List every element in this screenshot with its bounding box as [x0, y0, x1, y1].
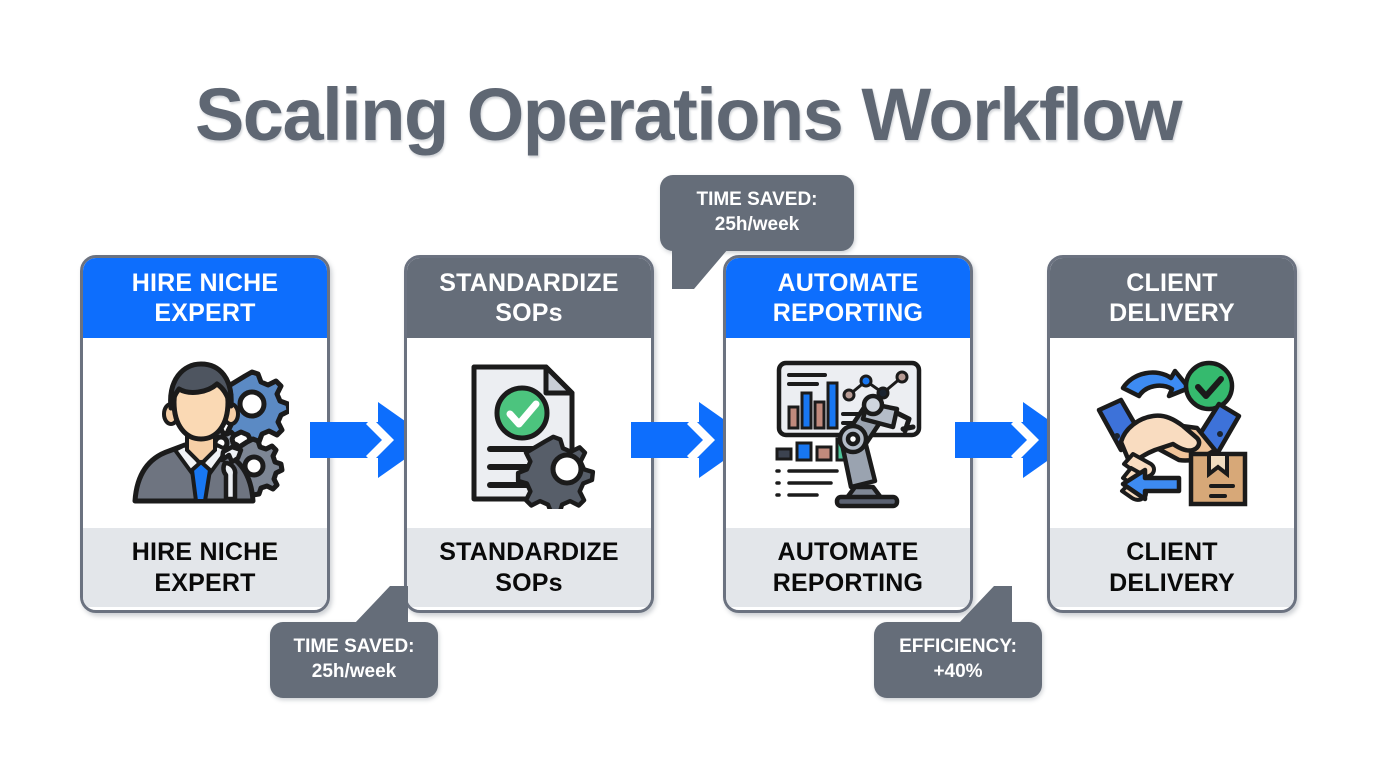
dashboard-robot-arm-icon [765, 357, 931, 509]
step-card-automate-reporting[interactable]: AUTOMATE REPORTING [723, 255, 973, 613]
step-card-body [83, 338, 327, 528]
step-footer-line2: REPORTING [773, 569, 923, 597]
step-card-footer: HIRE NICHE EXPERT [83, 528, 327, 607]
step-card-client-delivery[interactable]: CLIENT DELIVERY [1047, 255, 1297, 613]
page-title: Scaling Operations Workflow [0, 72, 1376, 157]
step-footer-line2: EXPERT [154, 569, 255, 597]
callout-line2: 25h/week [678, 213, 836, 238]
step-footer-line1: STANDARDIZE [439, 538, 619, 566]
step-footer-line2: SOPs [495, 569, 563, 597]
step-card-hire-niche-expert[interactable]: HIRE NICHE EXPERT [80, 255, 330, 613]
callout-time-saved-bottom: TIME SAVED: 25h/week [270, 622, 438, 698]
step-header-line1: AUTOMATE [778, 269, 919, 297]
step-header-line2: EXPERT [154, 299, 255, 327]
step-header-line1: HIRE NICHE [132, 269, 278, 297]
callout-tail [354, 586, 408, 624]
document-check-gear-icon [454, 357, 604, 509]
step-card-footer: CLIENT DELIVERY [1050, 528, 1294, 607]
step-card-header: STANDARDIZE SOPs [407, 258, 651, 338]
expert-gears-icon [121, 358, 289, 508]
step-footer-line1: AUTOMATE [778, 538, 919, 566]
step-card-footer: STANDARDIZE SOPs [407, 528, 651, 607]
step-header-line2: REPORTING [773, 299, 923, 327]
step-card-body [726, 338, 970, 528]
callout-time-saved-top: TIME SAVED: 25h/week [660, 175, 854, 251]
callout-line2: 25h/week [288, 660, 420, 685]
callout-efficiency: EFFICIENCY: +40% [874, 622, 1042, 698]
step-card-header: CLIENT DELIVERY [1050, 258, 1294, 338]
step-footer-line1: HIRE NICHE [132, 538, 278, 566]
step-card-footer: AUTOMATE REPORTING [726, 528, 970, 607]
callout-tail [672, 249, 728, 289]
workflow-diagram: Scaling Operations Workflow HIRE NICHE E… [0, 0, 1376, 768]
step-card-header: AUTOMATE REPORTING [726, 258, 970, 338]
callout-line2: +40% [892, 660, 1024, 685]
step-header-line2: DELIVERY [1109, 299, 1235, 327]
step-card-header: HIRE NICHE EXPERT [83, 258, 327, 338]
callout-tail [958, 586, 1012, 624]
step-card-body [1050, 338, 1294, 528]
step-card-standardize-sops[interactable]: STANDARDIZE SOPs [404, 255, 654, 613]
step-card-body [407, 338, 651, 528]
step-header-line2: SOPs [495, 299, 563, 327]
callout-line1: TIME SAVED: [678, 188, 836, 213]
step-footer-line2: DELIVERY [1109, 569, 1235, 597]
step-header-line1: STANDARDIZE [439, 269, 619, 297]
step-header-line1: CLIENT [1126, 269, 1217, 297]
handshake-package-icon [1087, 358, 1257, 508]
step-footer-line1: CLIENT [1126, 538, 1217, 566]
callout-line1: EFFICIENCY: [892, 635, 1024, 660]
callout-line1: TIME SAVED: [288, 635, 420, 660]
